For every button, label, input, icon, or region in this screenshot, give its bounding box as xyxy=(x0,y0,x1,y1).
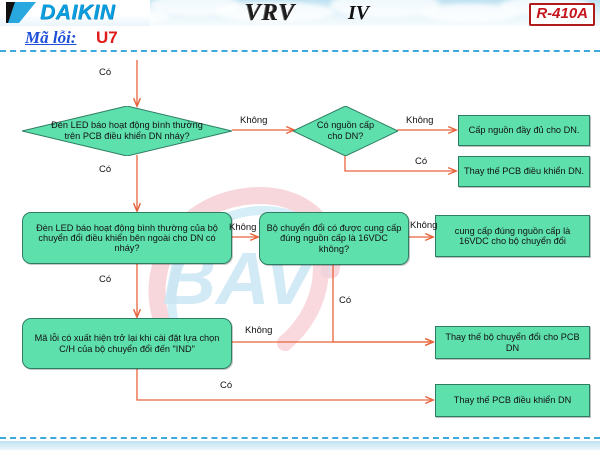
footer-bar xyxy=(0,441,600,450)
header-bar: DAIKIN VRV IV R-410A xyxy=(0,0,600,26)
result-replace-pcb-dn-top-label: Thay thế PCB điều khiển DN. xyxy=(460,164,588,178)
result-replace-adapter[interactable]: Thay thế bộ chuyển đổi cho PCB DN xyxy=(435,326,590,359)
edge-label-d3-yes: Có xyxy=(99,274,111,285)
edge-label-d2-yes: Có xyxy=(415,156,427,167)
result-supply-16vdc[interactable]: cung cấp đúng nguồn cấp là 16VDC cho bộ … xyxy=(435,215,590,257)
edge-label-d1-no: Không xyxy=(240,115,267,126)
error-code-label: Mã lỗi: xyxy=(25,28,76,48)
result-supply-full-power-label: Cấp nguồn đầy đủ cho DN. xyxy=(465,123,584,137)
decision-led-external-adapter[interactable]: Đèn LED báo hoạt động bình thường của bộ… xyxy=(22,212,232,264)
decision-adapter-16vdc-label: Bộ chuyển đổi có được cung cấp đúng nguồ… xyxy=(260,221,408,256)
edge-label-d4-no: Không xyxy=(410,220,437,231)
result-supply-full-power[interactable]: Cấp nguồn đầy đủ cho DN. xyxy=(458,115,590,146)
refrigerant-badge-label: R-410A xyxy=(536,5,588,22)
divider-bottom xyxy=(0,437,600,439)
decision-led-external-adapter-label: Đèn LED báo hoạt động bình thường của bộ… xyxy=(23,221,231,256)
error-code-row: Mã lỗi: U7 xyxy=(0,26,600,52)
result-supply-16vdc-label: cung cấp đúng nguồn cấp là 16VDC cho bộ … xyxy=(436,224,589,249)
decision-adapter-16vdc[interactable]: Bộ chuyển đổi có được cung cấp đúng nguồ… xyxy=(259,212,409,265)
decision-led-pcb-dn-label: Đèn LED báo hoạt động bình thường trên P… xyxy=(22,106,232,156)
vrv-label: VRV xyxy=(245,0,296,26)
edge-label-entry: Có xyxy=(99,67,111,78)
decision-led-pcb-dn[interactable]: Đèn LED báo hoạt động bình thường trên P… xyxy=(22,106,232,156)
slide-root: DAIKIN VRV IV R-410A Mã lỗi: U7 BAV xyxy=(0,0,600,450)
edge-label-d4-yes: Có xyxy=(339,295,351,306)
daikin-logo: DAIKIN xyxy=(6,1,178,25)
flowchart-canvas: Đèn LED báo hoạt động bình thường trên P… xyxy=(0,52,600,437)
edge-label-d3-no: Không xyxy=(229,222,256,233)
edge-label-d2-no: Không xyxy=(406,115,433,126)
decision-error-reappears-ind[interactable]: Mã lỗi có xuất hiện trở lại khi cài đặt … xyxy=(22,318,232,369)
decision-power-supply-dn[interactable]: Có nguồn cấp cho DN? xyxy=(293,106,398,156)
result-replace-adapter-label: Thay thế bộ chuyển đổi cho PCB DN xyxy=(436,330,589,355)
result-replace-pcb-dn-top[interactable]: Thay thế PCB điều khiển DN. xyxy=(458,156,590,187)
error-code-value: U7 xyxy=(96,28,118,48)
refrigerant-badge: R-410A xyxy=(529,3,595,26)
edge-label-d5-no: Không xyxy=(245,325,272,336)
vrv-title: VRV IV xyxy=(245,1,390,26)
daikin-wordmark: DAIKIN xyxy=(40,1,115,25)
daikin-logo-mark xyxy=(6,2,40,23)
decision-error-reappears-ind-label: Mã lỗi có xuất hiện trở lại khi cài đặt … xyxy=(23,331,231,356)
edge-label-d5-yes: Có xyxy=(220,380,232,391)
result-replace-pcb-dn-bottom-label: Thay thế PCB điều khiển DN xyxy=(450,393,575,407)
result-replace-pcb-dn-bottom[interactable]: Thay thế PCB điều khiển DN xyxy=(435,384,590,417)
edge-label-d1-yes: Có xyxy=(99,164,111,175)
decision-power-supply-dn-label: Có nguồn cấp cho DN? xyxy=(293,106,398,156)
vrv-version-label: IV xyxy=(348,2,369,25)
